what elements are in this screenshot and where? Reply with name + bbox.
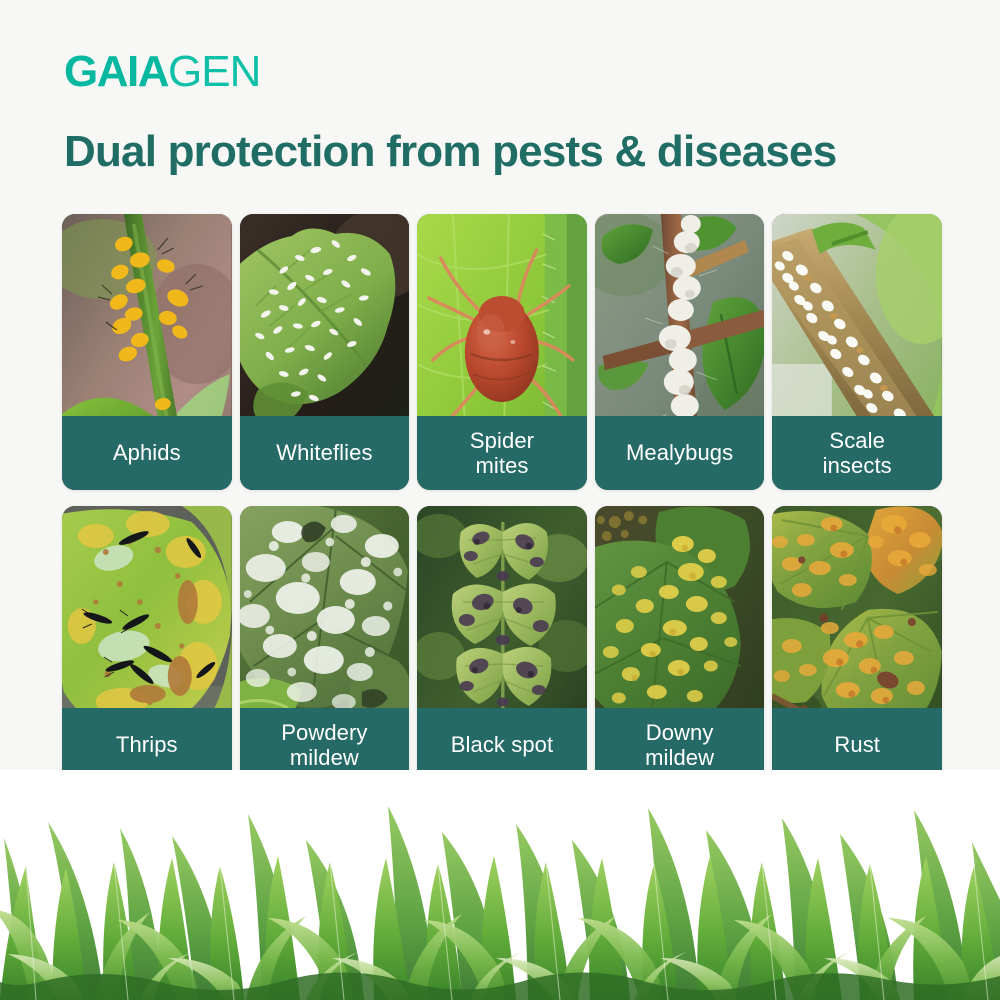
- brand-name-bold: GAIA: [64, 47, 168, 96]
- card-whiteflies[interactable]: Whiteflies: [240, 214, 410, 490]
- card-label: Black spot: [417, 708, 587, 782]
- card-label: Scale insects: [772, 416, 942, 490]
- pest-disease-grid: Aphids: [62, 214, 942, 782]
- card-label: Powdery mildew: [240, 708, 410, 782]
- card-mealybugs[interactable]: Mealybugs: [595, 214, 765, 490]
- page-title: Dual protection from pests & diseases: [64, 128, 836, 176]
- corn-plants-border: [0, 770, 1000, 1000]
- card-label: Rust: [772, 708, 942, 782]
- card-thrips[interactable]: Thrips: [62, 506, 232, 782]
- card-label: Whiteflies: [240, 416, 410, 490]
- card-downy-mildew[interactable]: Downy mildew: [595, 506, 765, 782]
- card-black-spot[interactable]: Black spot: [417, 506, 587, 782]
- card-rust[interactable]: Rust: [772, 506, 942, 782]
- card-aphids[interactable]: Aphids: [62, 214, 232, 490]
- card-label: Spider mites: [417, 416, 587, 490]
- card-powdery-mildew[interactable]: Powdery mildew: [240, 506, 410, 782]
- brand-logo: GAIAGEN: [64, 50, 260, 94]
- card-scale-insects[interactable]: Scale insects: [772, 214, 942, 490]
- card-label: Downy mildew: [595, 708, 765, 782]
- brand-name-light: GEN: [168, 47, 260, 96]
- card-spider-mites[interactable]: Spider mites: [417, 214, 587, 490]
- poster-root: GAIAGEN Dual protection from pests & dis…: [0, 0, 1000, 1000]
- card-label: Thrips: [62, 708, 232, 782]
- card-label: Aphids: [62, 416, 232, 490]
- card-label: Mealybugs: [595, 416, 765, 490]
